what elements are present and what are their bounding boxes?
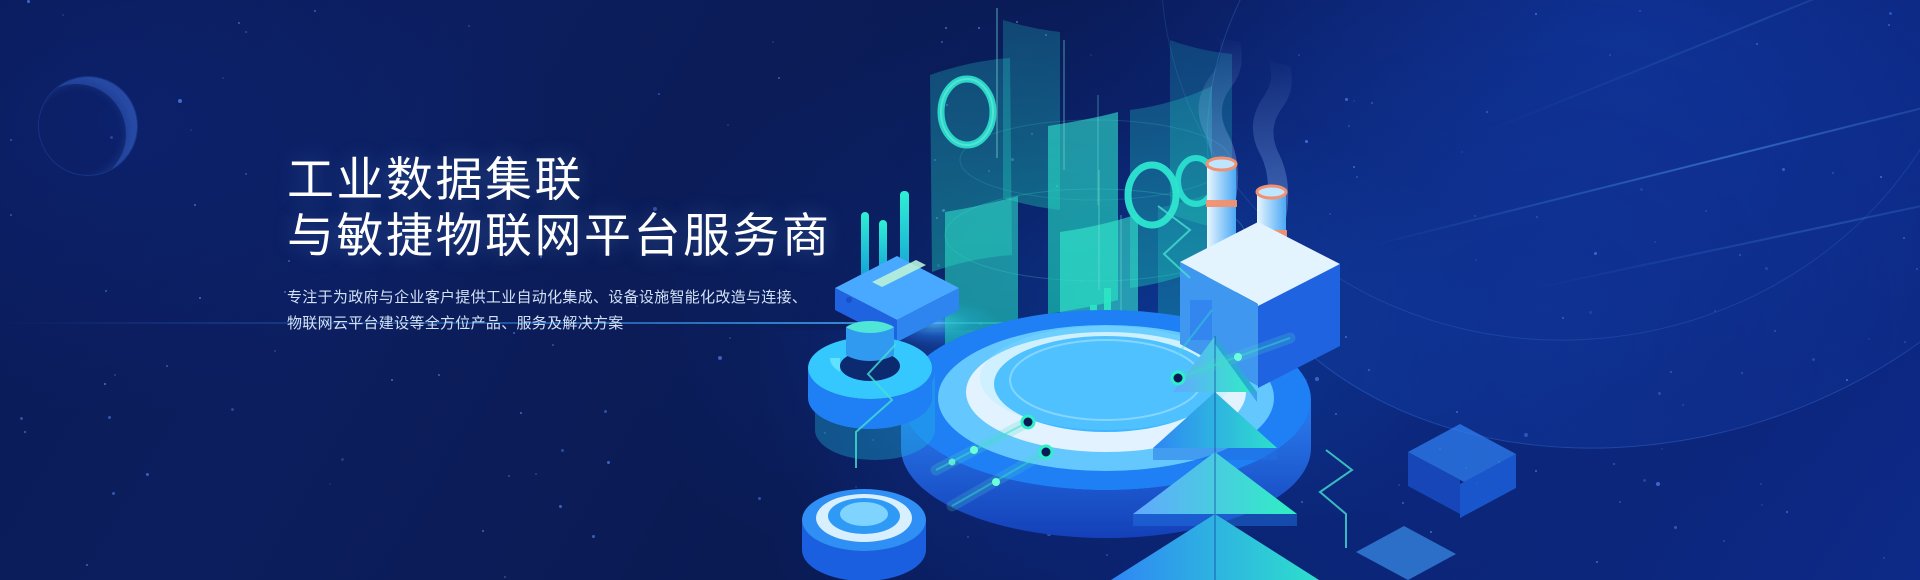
- star-particle: [166, 365, 168, 367]
- star-particle: [482, 530, 484, 532]
- star-particle: [222, 77, 224, 79]
- star-particle: [561, 449, 564, 452]
- star-particle: [194, 204, 196, 206]
- star-particle: [86, 564, 88, 566]
- star-particle: [190, 129, 192, 131]
- star-particle: [178, 99, 182, 103]
- star-particle: [10, 139, 12, 141]
- star-particle: [27, 0, 30, 3]
- star-particle: [329, 483, 331, 485]
- star-particle: [468, 25, 470, 27]
- star-particle: [520, 412, 522, 414]
- hero-banner: 工业数据集联 与敏捷物联网平台服务商 专注于为政府与企业客户提供工业自动化集成、…: [0, 0, 1920, 580]
- star-particle: [112, 492, 115, 495]
- iot-illustration: [760, 0, 1920, 580]
- star-particle: [508, 475, 510, 477]
- star-particle: [62, 14, 64, 16]
- star-particle: [146, 473, 149, 476]
- star-particle: [718, 356, 722, 360]
- star-particle: [231, 408, 234, 411]
- star-particle: [552, 344, 554, 346]
- star-particle: [438, 374, 440, 376]
- star-particle: [20, 417, 23, 420]
- star-particle: [607, 461, 610, 464]
- floor-blocks: [1356, 424, 1516, 580]
- star-particle: [604, 410, 607, 413]
- star-particle: [10, 214, 12, 216]
- crescent-moon-decoration: [38, 76, 138, 176]
- star-particle: [592, 535, 595, 538]
- star-particle: [24, 431, 26, 433]
- star-particle: [559, 505, 562, 508]
- star-particle: [238, 22, 240, 24]
- star-particle: [729, 337, 731, 339]
- round-platform-small: [802, 489, 926, 580]
- star-particle: [274, 350, 276, 352]
- star-particle: [341, 458, 344, 461]
- star-particle: [504, 576, 506, 578]
- star-particle: [108, 416, 111, 419]
- star-particle: [284, 291, 286, 293]
- star-particle: [727, 124, 729, 126]
- star-particle: [104, 383, 106, 385]
- star-particle: [391, 379, 393, 381]
- star-particle: [105, 290, 107, 292]
- star-particle: [658, 93, 660, 95]
- star-particle: [245, 173, 247, 175]
- star-particle: [245, 31, 247, 33]
- donut-chart-cylinder: [808, 321, 935, 460]
- star-particle: [114, 374, 116, 376]
- star-particle: [199, 297, 201, 299]
- star-particle: [535, 473, 537, 475]
- star-particle: [314, 10, 316, 12]
